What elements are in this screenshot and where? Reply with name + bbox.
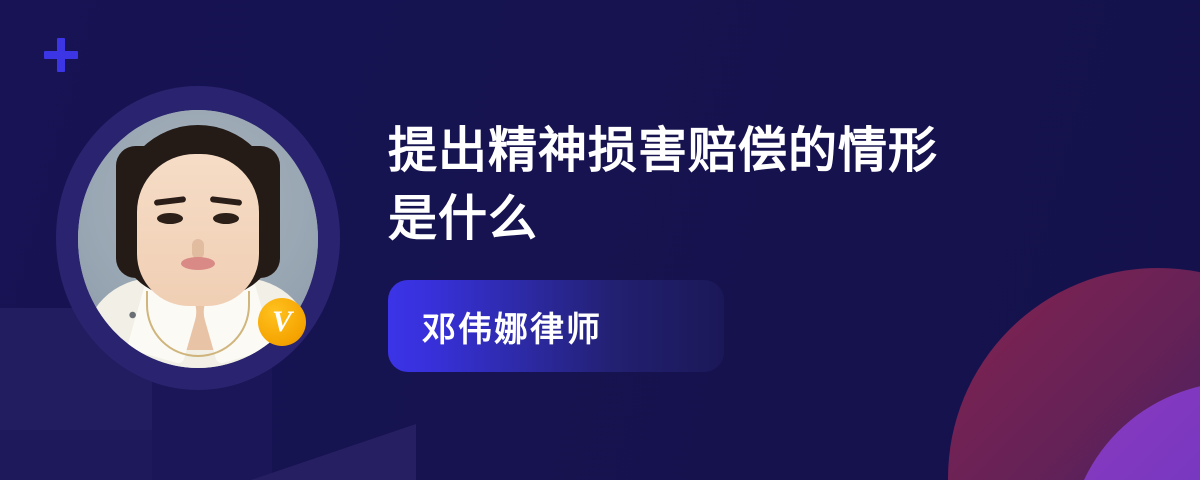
- page-title: 提出精神损害赔偿的情形 是什么: [388, 118, 1088, 253]
- author-name-badge[interactable]: 邓伟娜律师: [388, 280, 724, 372]
- portrait-nose: [192, 239, 204, 259]
- plus-icon: [44, 38, 78, 72]
- lawyer-qa-banner: V 提出精神损害赔偿的情形 是什么 邓伟娜律师: [0, 0, 1200, 480]
- portrait-mouth: [181, 257, 215, 270]
- banner-content: 提出精神损害赔偿的情形 是什么 邓伟娜律师: [388, 118, 1088, 372]
- portrait-face: [137, 154, 259, 306]
- verified-badge-icon: V: [258, 298, 306, 346]
- avatar: V: [56, 86, 340, 390]
